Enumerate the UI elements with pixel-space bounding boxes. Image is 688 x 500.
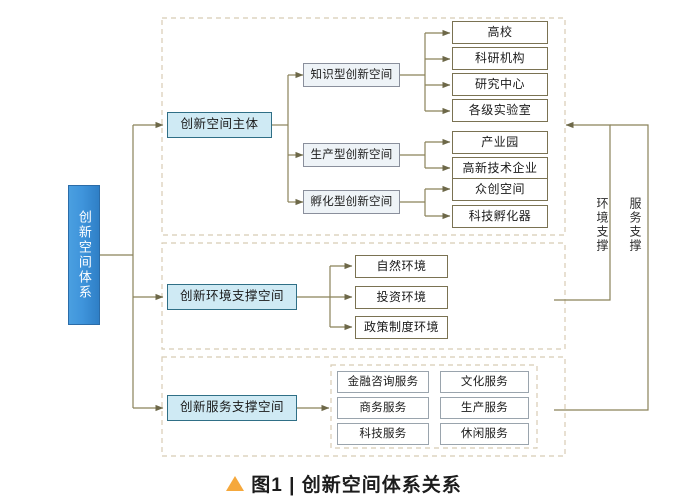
figure-caption: 图1 | 创新空间体系关系: [0, 466, 688, 500]
leaf-node-leisure-service[interactable]: 休闲服务: [440, 423, 529, 445]
triangle-icon: [226, 476, 244, 491]
level2-node-knowledge-innovation-space[interactable]: 知识型创新空间: [303, 63, 400, 87]
leaf-node-cultural-service[interactable]: 文化服务: [440, 371, 529, 393]
leaf-node-production-service[interactable]: 生产服务: [440, 397, 529, 419]
leaf-node-makerspace[interactable]: 众创空间: [452, 178, 548, 201]
leaf-node-high-tech-enterprise[interactable]: 高新技术企业: [452, 157, 548, 180]
leaf-node-natural-environment[interactable]: 自然环境: [355, 255, 448, 278]
diagram-canvas: 创新空间体系 创新空间主体 知识型创新空间 生产型创新空间 孵化型创新空间 高校…: [0, 0, 688, 500]
leaf-node-business-service[interactable]: 商务服务: [337, 397, 429, 419]
leaf-node-tech-incubator[interactable]: 科技孵化器: [452, 205, 548, 228]
leaf-node-policy-institution-environment[interactable]: 政策制度环境: [355, 316, 448, 339]
level1-node-innovation-service-support-space[interactable]: 创新服务支撑空间: [167, 395, 297, 421]
leaf-node-technology-service[interactable]: 科技服务: [337, 423, 429, 445]
leaf-node-investment-environment[interactable]: 投资环境: [355, 286, 448, 309]
level2-node-incubation-innovation-space[interactable]: 孵化型创新空间: [303, 190, 400, 214]
leaf-node-research-institute[interactable]: 科研机构: [452, 47, 548, 70]
leaf-node-laboratories[interactable]: 各级实验室: [452, 99, 548, 122]
leaf-node-industrial-park[interactable]: 产业园: [452, 131, 548, 154]
root-node-innovation-space-system[interactable]: 创新空间体系: [68, 185, 100, 325]
leaf-node-research-center[interactable]: 研究中心: [452, 73, 548, 96]
leaf-node-university[interactable]: 高校: [452, 21, 548, 44]
level1-node-innovation-environment-support-space[interactable]: 创新环境支撑空间: [167, 284, 297, 310]
level2-node-production-innovation-space[interactable]: 生产型创新空间: [303, 143, 400, 167]
figure-caption-text: 图1 | 创新空间体系关系: [251, 470, 461, 497]
feedback-label-service-support: 服务支撑: [625, 190, 641, 260]
feedback-label-environment-support: 环境支撑: [592, 190, 608, 260]
level1-node-innovation-space-subject[interactable]: 创新空间主体: [167, 112, 272, 138]
leaf-node-financial-consulting-service[interactable]: 金融咨询服务: [337, 371, 429, 393]
